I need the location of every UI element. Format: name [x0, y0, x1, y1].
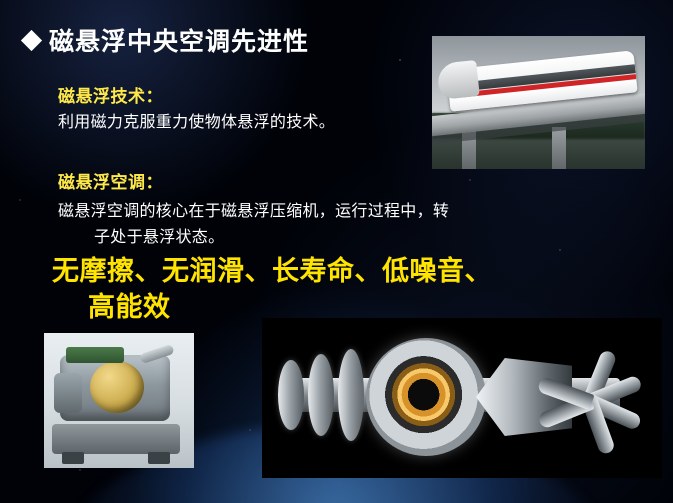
compressor-base — [52, 424, 180, 454]
body-line-2: 子处于悬浮状态。 — [58, 225, 558, 251]
compressor-control-box — [66, 347, 124, 363]
guideway-pillar — [462, 127, 476, 169]
rotor-disc — [308, 354, 334, 436]
benefits-highlight: 无摩擦、无润滑、长寿命、低噪音、 高能效 — [52, 253, 522, 325]
section-heading-maglev-air-conditioner: 磁悬浮空调： — [58, 168, 163, 193]
compressor-image — [44, 333, 194, 468]
rotor-disc — [338, 349, 364, 441]
compressor-motor-drum — [90, 361, 144, 413]
magnetic-bearing-hub — [366, 338, 486, 456]
slide-title-row: 磁悬浮中央空调先进性 — [24, 22, 309, 58]
section-body-maglev-air-conditioner: 磁悬浮空调的核心在于磁悬浮压缩机，运行过程中，转 子处于悬浮状态。 — [58, 199, 558, 251]
benefits-line-1: 无摩擦、无润滑、长寿命、低噪音、 — [52, 256, 492, 286]
diamond-bullet-icon — [21, 29, 42, 50]
compressor-foot — [148, 452, 170, 464]
page-title: 磁悬浮中央空调先进性 — [49, 22, 309, 58]
body-line-1: 磁悬浮空调的核心在于磁悬浮压缩机，运行过程中，转 — [58, 203, 449, 220]
section-body-maglev-technology: 利用磁力克服重力使物体悬浮的技术。 — [58, 110, 478, 136]
rotor-impeller-image — [262, 318, 662, 478]
rotor-disc — [278, 360, 304, 430]
compressor-cylinder — [54, 373, 82, 413]
maglev-train-image — [432, 36, 645, 169]
slide-canvas: 磁悬浮中央空调先进性 磁悬浮技术： 利用磁力克服重力使物体悬浮的技术。 磁悬浮空… — [0, 0, 673, 503]
compressor-foot — [62, 452, 84, 464]
impeller-blades — [558, 342, 654, 458]
section-heading-maglev-technology: 磁悬浮技术： — [58, 82, 163, 107]
guideway-pillar — [552, 127, 566, 169]
